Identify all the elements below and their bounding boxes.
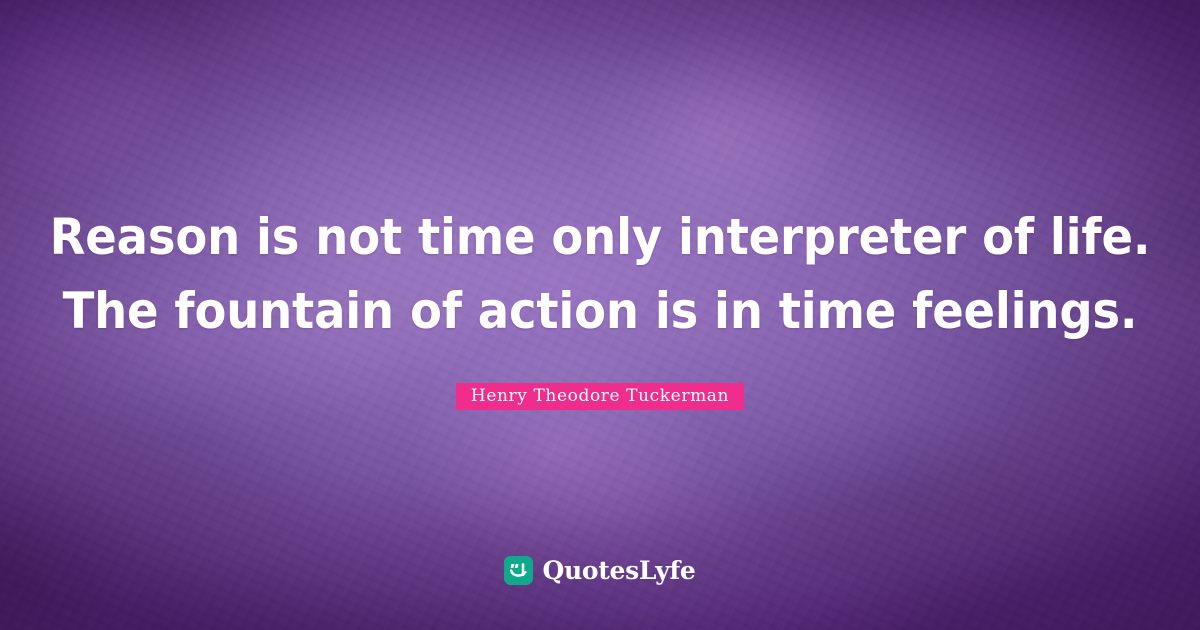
quote-line-2: The fountain of action is in time feelin… <box>42 274 1158 348</box>
quote-card: Reason is not time only interpreter of l… <box>0 0 1200 630</box>
quoteslyfe-logo-icon <box>504 556 533 585</box>
author-name-badge: Henry Theodore Tuckerman <box>456 383 744 410</box>
brand-wordmark: QuotesLyfe <box>542 556 695 585</box>
card-content: Reason is not time only interpreter of l… <box>0 0 1200 630</box>
quote-line-1: Reason is not time only interpreter of l… <box>42 200 1158 274</box>
quote-text: Reason is not time only interpreter of l… <box>0 200 1200 348</box>
author-attribution: Henry Theodore Tuckerman <box>0 383 1200 410</box>
brand-logo: QuotesLyfe <box>0 556 1200 585</box>
